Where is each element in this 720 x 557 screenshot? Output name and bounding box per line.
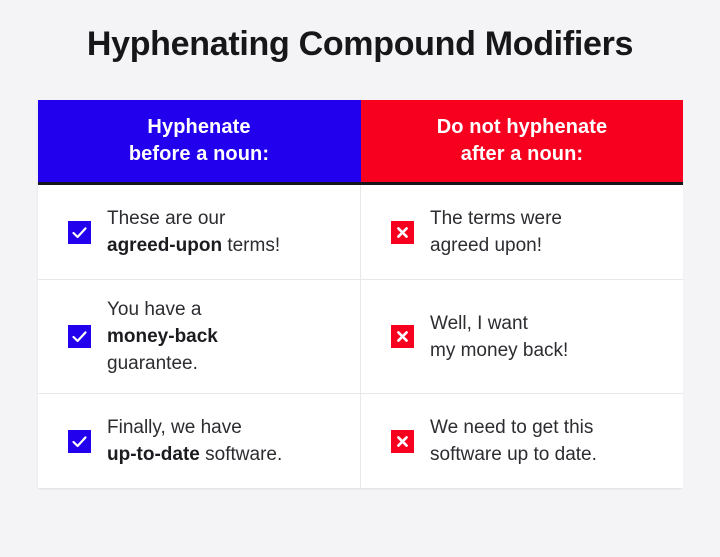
text-line: money-back (107, 323, 218, 350)
cell-correct-3: Finally, we have up-to-date software. (38, 394, 361, 489)
cell-text: The terms were agreed upon! (430, 205, 562, 259)
header-left-line1: Hyphenate (38, 114, 360, 141)
text-line: guarantee. (107, 350, 218, 377)
text-line: Finally, we have (107, 414, 282, 441)
cell-correct-1: These are our agreed-upon terms! (38, 184, 361, 280)
text-line: up-to-date software. (107, 441, 282, 468)
header-cell-hyphenate: Hyphenate before a noun: (38, 100, 361, 184)
table-row: You have a money-back guarantee. (38, 280, 683, 394)
text-line: Well, I want (430, 310, 568, 337)
cell-incorrect-3: We need to get this software up to date. (361, 394, 684, 489)
header-right-line2: after a noun: (361, 141, 683, 168)
cell-text: Finally, we have up-to-date software. (107, 414, 282, 468)
text-line: agreed upon! (430, 232, 562, 259)
text-line: The terms were (430, 205, 562, 232)
text-line: We need to get this (430, 414, 597, 441)
page-title: Hyphenating Compound Modifiers (0, 22, 720, 66)
x-icon (391, 325, 414, 348)
table-header-row: Hyphenate before a noun: Do not hyphenat… (38, 100, 683, 184)
text-line: These are our (107, 205, 280, 232)
check-icon (68, 221, 91, 244)
text-rest: terms! (222, 235, 280, 256)
comparison-card: Hyphenate before a noun: Do not hyphenat… (38, 100, 682, 488)
header-left-line2: before a noun: (38, 141, 360, 168)
header-right-line1: Do not hyphenate (361, 114, 683, 141)
comparison-table: Hyphenate before a noun: Do not hyphenat… (38, 100, 683, 488)
cell-text: We need to get this software up to date. (430, 414, 597, 468)
check-icon (68, 430, 91, 453)
table-row: These are our agreed-upon terms! (38, 184, 683, 280)
bold-term: money-back (107, 326, 218, 347)
header-cell-do-not-hyphenate: Do not hyphenate after a noun: (361, 100, 684, 184)
cell-incorrect-1: The terms were agreed upon! (361, 184, 684, 280)
cell-correct-2: You have a money-back guarantee. (38, 280, 361, 394)
text-line: my money back! (430, 337, 568, 364)
cell-text: Well, I want my money back! (430, 310, 568, 364)
check-icon (68, 325, 91, 348)
text-rest: software. (200, 444, 282, 465)
text-line: agreed-upon terms! (107, 232, 280, 259)
bold-term: up-to-date (107, 444, 200, 465)
cell-text: You have a money-back guarantee. (107, 296, 218, 377)
x-icon (391, 221, 414, 244)
text-line: You have a (107, 296, 218, 323)
text-line: software up to date. (430, 441, 597, 468)
infographic-page: Hyphenating Compound Modifiers Hyphenate… (0, 0, 720, 557)
bold-term: agreed-upon (107, 235, 222, 256)
table-row: Finally, we have up-to-date software. (38, 394, 683, 489)
cell-text: These are our agreed-upon terms! (107, 205, 280, 259)
cell-incorrect-2: Well, I want my money back! (361, 280, 684, 394)
x-icon (391, 430, 414, 453)
